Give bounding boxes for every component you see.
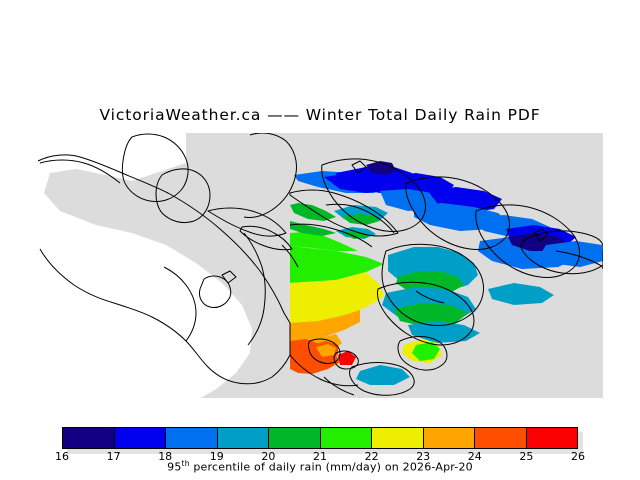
colorbar-segment-3 (218, 428, 270, 448)
colorbar-segment-7 (424, 428, 476, 448)
colorbar-segments (62, 427, 578, 449)
colorbar-segment-8 (475, 428, 527, 448)
caption-rest: percentile of daily rain (mm/day) on 202… (190, 461, 473, 474)
colorbar-segment-6 (372, 428, 424, 448)
map-contour-plot (36, 133, 603, 398)
colorbar-segment-0 (63, 428, 115, 448)
colorbar-caption: 95th percentile of daily rain (mm/day) o… (0, 459, 640, 474)
colorbar-segment-5 (321, 428, 373, 448)
page-title: VictoriaWeather.ca —— Winter Total Daily… (0, 106, 640, 124)
colorbar-segment-1 (115, 428, 167, 448)
colorbar-segment-9 (527, 428, 578, 448)
caption-prefix: 95 (167, 461, 181, 474)
map-panel (36, 133, 603, 398)
colorbar (62, 427, 578, 449)
caption-superscript: th (182, 459, 190, 468)
colorbar-segment-4 (269, 428, 321, 448)
colorbar-segment-2 (166, 428, 218, 448)
